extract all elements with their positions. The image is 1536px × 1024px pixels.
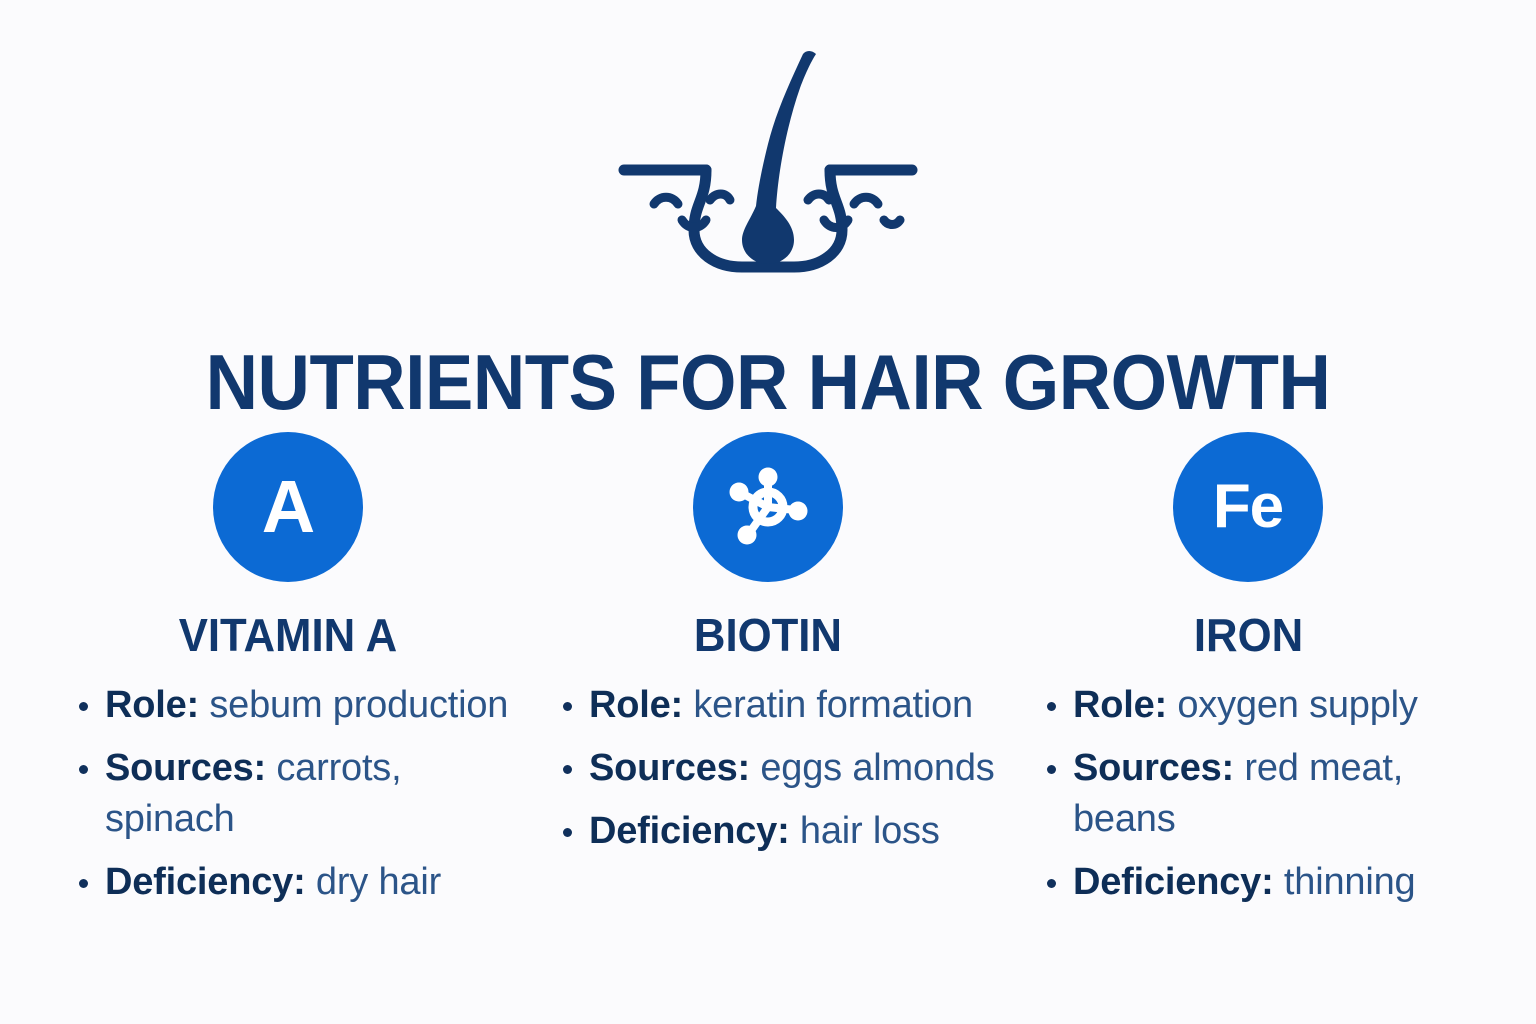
bullet-value: keratin formation	[693, 684, 973, 726]
molecule-badge	[693, 432, 843, 582]
bullet-value: hair loss	[800, 810, 940, 852]
bullet-label: Sources:	[589, 747, 750, 789]
bullet-value: eggs almonds	[760, 747, 994, 789]
column-heading-iron: IRON	[1193, 610, 1302, 660]
column-heading-vitamin-a: VITAMIN A	[179, 610, 397, 660]
bullet-label: Deficiency:	[105, 861, 306, 903]
hair-follicle-icon	[618, 48, 918, 273]
list-item: Role: sebum production	[71, 680, 511, 731]
column-heading-biotin: BIOTIN	[694, 610, 842, 660]
infographic-poster: NUTRIENTS FOR HAIR GROWTH A VITAMIN A Ro…	[0, 0, 1536, 1024]
iron-fe-letter: Fe	[1213, 476, 1283, 538]
list-item: Deficiency: thinning	[1039, 857, 1479, 908]
nutrient-column-vitamin-a: A VITAMIN A Role: sebum production Sourc…	[48, 432, 528, 920]
bullet-label: Role:	[1073, 684, 1167, 726]
list-item: Deficiency: hair loss	[555, 806, 995, 857]
list-item: Role: oxygen supply	[1039, 680, 1479, 731]
bullet-label: Sources:	[105, 747, 266, 789]
bullet-label: Deficiency:	[1073, 861, 1274, 903]
page-title: NUTRIENTS FOR HAIR GROWTH	[54, 340, 1482, 424]
list-item: Deficiency: dry hair	[71, 857, 511, 908]
list-item: Sources: carrots, spinach	[71, 743, 511, 845]
bullet-value: thinning	[1284, 861, 1416, 903]
bullet-list-biotin: Role: keratin formation Sources: eggs al…	[555, 680, 995, 869]
bullet-label: Role:	[105, 684, 199, 726]
list-item: Sources: eggs almonds	[555, 743, 995, 794]
bullet-label: Role:	[589, 684, 683, 726]
nutrient-column-iron: Fe IRON Role: oxygen supply Sources: red…	[1008, 432, 1488, 920]
bullet-label: Sources:	[1073, 747, 1234, 789]
list-item: Role: keratin formation	[555, 680, 995, 731]
vitamin-a-badge: A	[213, 432, 363, 582]
vitamin-a-letter: A	[262, 470, 314, 544]
bullet-value: sebum production	[209, 684, 508, 726]
bullet-list-vitamin-a: Role: sebum production Sources: carrots,…	[71, 680, 511, 920]
nutrient-column-biotin: BIOTIN Role: keratin formation Sources: …	[528, 432, 1008, 869]
bullet-label: Deficiency:	[589, 810, 790, 852]
molecule-icon	[724, 463, 812, 551]
bullet-list-iron: Role: oxygen supply Sources: red meat, b…	[1039, 680, 1479, 920]
bullet-value: dry hair	[316, 861, 441, 903]
iron-fe-badge: Fe	[1173, 432, 1323, 582]
nutrient-columns: A VITAMIN A Role: sebum production Sourc…	[48, 432, 1488, 920]
list-item: Sources: red meat, beans	[1039, 743, 1479, 845]
bullet-value: oxygen supply	[1177, 684, 1417, 726]
